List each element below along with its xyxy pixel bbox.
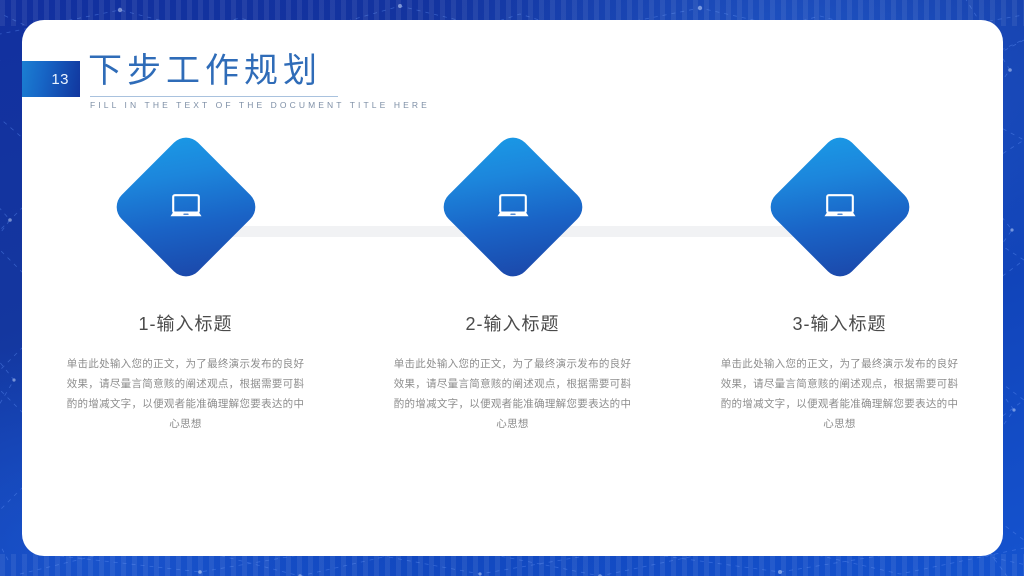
bottom-scanline-decoration — [0, 554, 1024, 576]
step-3-diamond[interactable] — [763, 130, 917, 284]
diamond-shape — [109, 131, 262, 284]
step-body: 单击此处输入您的正文，为了最终演示发布的良好效果，请尽量言简意赅的阐述观点，根据… — [716, 354, 964, 434]
diamond-shape — [763, 131, 916, 284]
laptop-icon — [823, 192, 857, 222]
title-divider — [90, 96, 338, 97]
steps-row: 1-输入标题 单击此处输入您的正文，为了最终演示发布的良好效果，请尽量言简意赅的… — [22, 130, 1003, 434]
laptop-icon — [169, 192, 203, 222]
step-item-3[interactable]: 3-输入标题 单击此处输入您的正文，为了最终演示发布的良好效果，请尽量言简意赅的… — [690, 130, 990, 434]
diamond-shape — [436, 131, 589, 284]
step-title: 1-输入标题 — [138, 310, 232, 336]
step-1-diamond[interactable] — [109, 130, 263, 284]
page-title: 下步工作规划 — [88, 50, 430, 92]
step-title: 2-输入标题 — [465, 310, 559, 336]
title-block: 下步工作规划 FILL IN THE TEXT OF THE DOCUMENT … — [88, 50, 430, 110]
laptop-icon — [496, 192, 530, 222]
step-item-2[interactable]: 2-输入标题 单击此处输入您的正文，为了最终演示发布的良好效果，请尽量言简意赅的… — [363, 130, 663, 434]
step-2-diamond[interactable] — [436, 130, 590, 284]
step-item-1[interactable]: 1-输入标题 单击此处输入您的正文，为了最终演示发布的良好效果，请尽量言简意赅的… — [36, 130, 336, 434]
page-number-badge: 13 — [22, 61, 80, 97]
step-body: 单击此处输入您的正文，为了最终演示发布的良好效果，请尽量言简意赅的阐述观点，根据… — [389, 354, 637, 434]
page-subtitle: FILL IN THE TEXT OF THE DOCUMENT TITLE H… — [88, 100, 430, 110]
step-body: 单击此处输入您的正文，为了最终演示发布的良好效果，请尽量言简意赅的阐述观点，根据… — [62, 354, 310, 434]
step-title: 3-输入标题 — [792, 310, 886, 336]
slide-card: 13 下步工作规划 FILL IN THE TEXT OF THE DOCUME… — [22, 20, 1003, 556]
